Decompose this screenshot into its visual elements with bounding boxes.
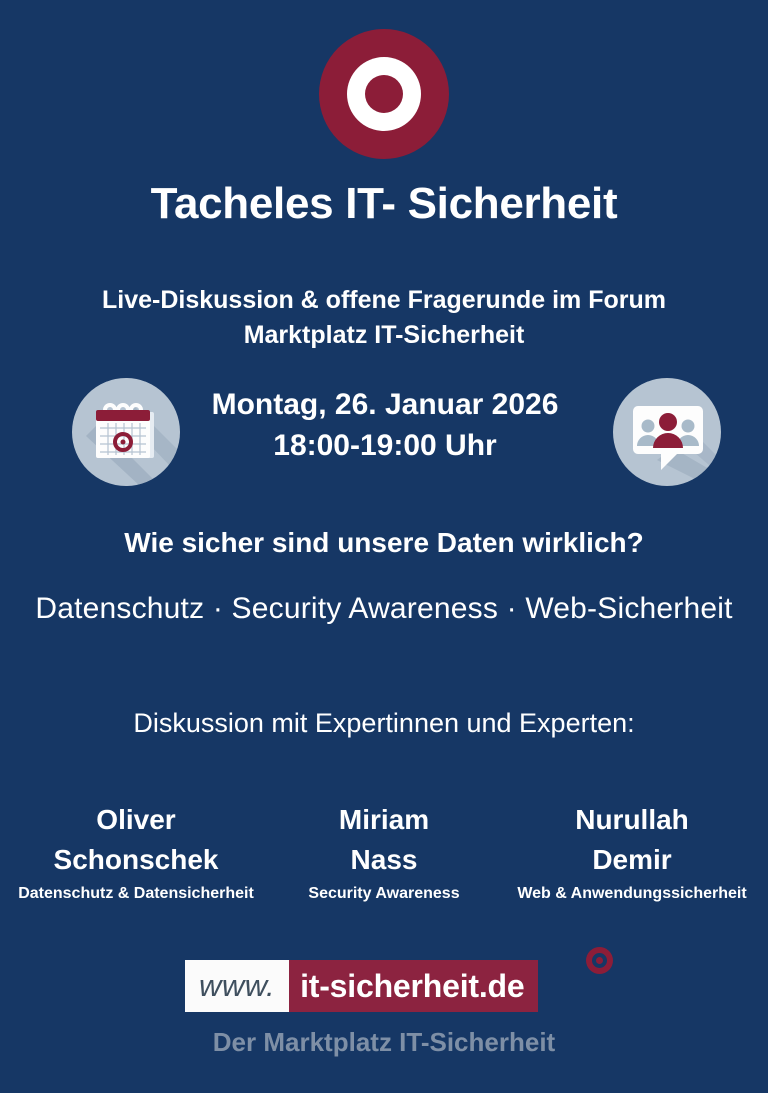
calendar-icon: [72, 378, 180, 486]
expert-card: Oliver Schonschek Datenschutz & Datensic…: [12, 800, 260, 903]
expert-card: Miriam Nass Security Awareness: [260, 800, 508, 903]
expert-first-name: Oliver: [14, 800, 258, 840]
target-circle-icon: [586, 947, 613, 974]
footer-tagline: Der Marktplatz IT-Sicherheit: [0, 1027, 768, 1058]
target-dot: [365, 75, 403, 113]
event-datetime-row: Montag, 26. Januar 2026 18:00-19:00 Uhr: [0, 378, 768, 490]
expert-role: Security Awareness: [262, 884, 506, 903]
logo-www-text: www.: [199, 968, 275, 1004]
logo-www-box: www.: [185, 960, 289, 1012]
subtitle-line-1: Live-Diskussion & offene Fragerunde im F…: [0, 283, 768, 318]
target-dot: [596, 957, 603, 964]
event-poster: Tacheles IT- Sicherheit Live-Diskussion …: [0, 0, 768, 1093]
expert-last-name: Nass: [262, 840, 506, 880]
expert-first-name: Miriam: [262, 800, 506, 840]
event-datetime-text: Montag, 26. Januar 2026 18:00-19:00 Uhr: [190, 384, 580, 467]
expert-first-name: Nurullah: [510, 800, 754, 840]
event-date: Montag, 26. Januar 2026: [190, 384, 580, 425]
logo-domain-box: it-sicherheit.de: [289, 960, 537, 1012]
expert-role: Web & Anwendungssicherheit: [510, 884, 754, 903]
experts-intro: Diskussion mit Expertinnen und Experten:: [0, 708, 768, 739]
site-logo[interactable]: www. it-sicherheit.de: [185, 960, 538, 1012]
expert-card: Nurullah Demir Web & Anwendungssicherhei…: [508, 800, 756, 903]
experts-row: Oliver Schonschek Datenschutz & Datensic…: [12, 800, 756, 903]
target-circle-icon: [319, 29, 449, 159]
target-ring: [592, 953, 607, 968]
subtitle-line-2: Marktplatz IT-Sicherheit: [0, 318, 768, 353]
event-time: 18:00-19:00 Uhr: [190, 425, 580, 466]
discussion-group-icon: [613, 378, 721, 486]
target-ring: [347, 57, 421, 131]
logo-domain-text: it-sicherheit.de: [300, 968, 524, 1005]
event-question: Wie sicher sind unsere Daten wirklich?: [0, 527, 768, 559]
page-title: Tacheles IT- Sicherheit: [0, 180, 768, 228]
expert-last-name: Demir: [510, 840, 754, 880]
expert-role: Datenschutz & Datensicherheit: [14, 884, 258, 903]
event-subtitle: Live-Diskussion & offene Fragerunde im F…: [0, 283, 768, 352]
expert-last-name: Schonschek: [14, 840, 258, 880]
event-topics: Datenschutz · Security Awareness · Web-S…: [0, 592, 768, 626]
